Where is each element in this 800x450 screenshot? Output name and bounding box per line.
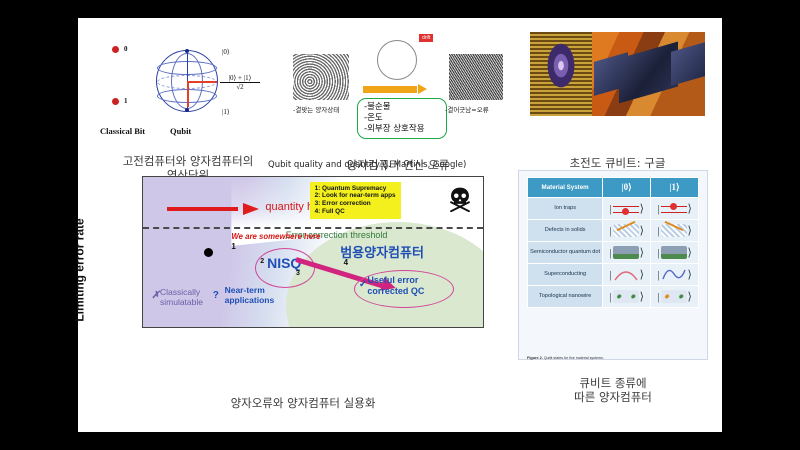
table-header-state-0: |0⟩: [603, 178, 651, 198]
supercond-1-icon: |⟩: [651, 264, 699, 286]
decohered-state-image: [449, 54, 503, 100]
useful-qc-line1: Useful error: [367, 275, 424, 286]
topo-1-icon: |✹✹⟩: [651, 286, 699, 308]
useful-qc-label: Useful error corrected QC: [367, 275, 424, 297]
table-figure-caption-text: Qubit states for five material systems.: [544, 356, 604, 360]
slide-frame: 0 1 |0⟩ |1⟩ |0⟩ + |1⟩ √2 Classical Bit: [0, 0, 800, 450]
stage-marker-4: 4: [344, 258, 348, 267]
row-label-defects-in-solids: Defects in solids: [528, 220, 603, 242]
roadmap-box: 1: Quantum Supremacy 2: Look for near-te…: [310, 182, 401, 219]
current-state-point: [204, 248, 213, 257]
roadmap-item-3: 3: Error correction: [315, 200, 396, 208]
panel-operation-error: -결맞는 양자상태 drift -불순물 -온도 -외부장 상호작용 -결어긋남…: [293, 32, 503, 152]
panel-classical-vs-qubit: 0 1 |0⟩ |1⟩ |0⟩ + |1⟩ √2 Classical Bit: [98, 32, 278, 152]
coherent-state-image: [293, 54, 349, 100]
classical-bit-0-label: 0: [124, 45, 128, 53]
slide-canvas: 0 1 |0⟩ |1⟩ |0⟩ + |1⟩ √2 Classical Bit: [78, 18, 722, 432]
useful-qc-check-icon: ✓: [359, 279, 367, 290]
dilution-refrigerator-image: [530, 32, 592, 116]
panel3-caption-line1: 초전도 큐비트: 구글: [530, 156, 705, 170]
topo-0-icon: |✹✹⟩: [603, 286, 651, 308]
near-term-question-icon: ?: [213, 290, 219, 301]
decoherence-arrow: [363, 84, 427, 95]
table-caption-line2: 따른 양자컴퓨터: [518, 390, 708, 404]
classically-simulatable-label: Classically simulatable: [160, 287, 203, 307]
sycamore-chip-image: [592, 32, 705, 116]
ket-1-label: |1⟩: [222, 108, 230, 116]
error-causes-box: -불순물 -온도 -외부장 상호작용: [357, 98, 447, 139]
table-row: Superconducting |⟩ |⟩: [528, 264, 699, 286]
qubit-quality-quantity-chart: Limiting error rate Error correction thr…: [88, 170, 496, 370]
chart-y-axis-label: Limiting error rate: [73, 218, 87, 321]
classical-bit-0-dot: [112, 46, 119, 53]
bloch-sphere: [156, 50, 218, 112]
error-cause-temperature: -온도: [364, 113, 440, 124]
classical-bit-title: Classical Bit: [100, 126, 145, 136]
roadmap-item-1: 1: Quantum Supremacy: [315, 185, 396, 193]
table-figure-caption-label: Figure 2.: [527, 356, 543, 360]
panel1-caption-line1: 고전컴퓨터와 양자컴퓨터의: [88, 154, 288, 168]
classically-simulatable-line1: Classically: [160, 287, 203, 297]
stage-marker-2: 2: [260, 258, 264, 265]
supercond-0-icon: |⟩: [603, 264, 651, 286]
ket-0-label: |0⟩: [222, 48, 230, 56]
qdot-0-icon: |⟩: [603, 242, 651, 264]
table-header-state-1: |1⟩: [651, 178, 699, 198]
table-header-row: Material System |0⟩ |1⟩: [528, 178, 699, 198]
qubit-states-table-panel: Material System |0⟩ |1⟩ Ion traps |⟩ |⟩: [518, 170, 708, 360]
table-caption: 큐비트 종류에 따른 양자컴퓨터: [518, 376, 708, 404]
defect-1-icon: |⟩: [651, 220, 699, 242]
error-cause-impurity: -불순물: [364, 102, 440, 113]
classically-simulatable-line2: simulatable: [160, 297, 203, 307]
roadmap-item-2: 2: Look for near-term apps: [315, 192, 396, 200]
classical-bit-1-label: 1: [124, 97, 128, 105]
table-row: Topological nanowire |✹✹⟩ |✹✹⟩: [528, 286, 699, 308]
superposition-bar: √2: [220, 82, 260, 91]
table-caption-line1: 큐비트 종류에: [518, 376, 708, 390]
row-label-topological-nanowire: Topological nanowire: [528, 286, 603, 308]
drift-tag: drift: [419, 34, 433, 42]
defect-0-icon: |⟩: [603, 220, 651, 242]
ion-trap-1-icon: |⟩: [651, 198, 699, 220]
coherent-state-caption: -결맞는 양자상태: [293, 104, 339, 114]
near-term-applications-label: Near-term applications: [225, 285, 275, 305]
row-label-semiconductor-quantum-dot: Semiconductor quantum dot: [528, 242, 603, 264]
quantity-hype-arrow: [167, 204, 259, 213]
chart-caption: 양자오류와 양자컴퓨터 실용화: [138, 396, 468, 410]
table-row: Defects in solids |⟩ |⟩: [528, 220, 699, 242]
table-row: Semiconductor quantum dot |⟩ |⟩: [528, 242, 699, 264]
decohered-state-caption: -결어긋남=오류: [445, 104, 489, 114]
qubit-states-table: Material System |0⟩ |1⟩ Ion traps |⟩ |⟩: [527, 177, 699, 308]
classically-simulatable-x-icon: ✗: [152, 290, 160, 301]
error-cause-external-field: -외부장 상호작용: [364, 124, 440, 135]
superposition-formula: |0⟩ + |1⟩ √2: [220, 74, 260, 91]
bloch-sphere-drift: [377, 40, 417, 80]
ion-trap-0-icon: |⟩: [603, 198, 651, 220]
near-term-line1: Near-term: [225, 285, 275, 295]
near-term-line2: applications: [225, 295, 275, 305]
we-are-here-label: We are somewhere here: [231, 232, 320, 241]
qubit-title: Qubit: [170, 126, 191, 136]
superposition-numerator: |0⟩ + |1⟩: [229, 74, 252, 82]
error-correction-threshold-line: [143, 227, 483, 229]
row-label-superconducting: Superconducting: [528, 264, 603, 286]
qdot-1-icon: |⟩: [651, 242, 699, 264]
table-header-material-system: Material System: [528, 178, 603, 198]
stage-marker-1: 1: [231, 242, 235, 251]
classical-bit-1-dot: [112, 98, 119, 105]
table-figure-caption: Figure 2. Qubit states for five material…: [527, 356, 604, 360]
row-label-ion-traps: Ion traps: [528, 198, 603, 220]
table-row: Ion traps |⟩ |⟩: [528, 198, 699, 220]
chart-plot-area: Error correction threshold quantity hype…: [142, 176, 484, 328]
roadmap-item-4: 4: Full QC: [315, 208, 396, 216]
universal-quantum-computer-label: 범용양자컴퓨터: [340, 242, 424, 261]
useful-qc-line2: corrected QC: [367, 286, 424, 297]
chart-title: Qubit quality and quantity (J. Martinis,…: [268, 160, 466, 170]
skull-and-crossbones-icon: [447, 186, 473, 212]
